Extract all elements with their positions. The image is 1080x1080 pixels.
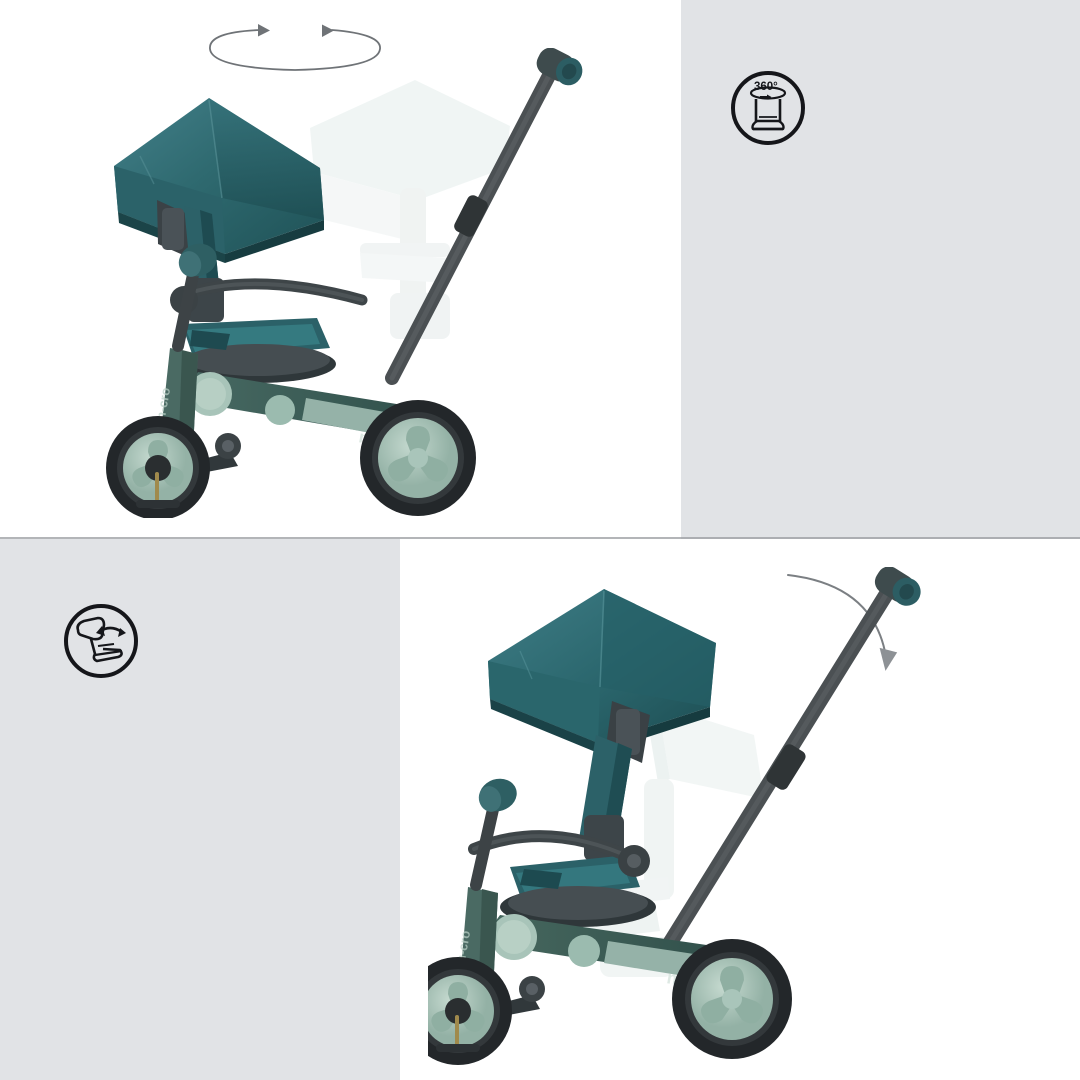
icon-360-label: 360° [754,81,778,93]
panel-recline-feature: Reclining seat for quick naps, long snoo… [0,539,400,1080]
trike-product-image: m-cro m-cro [428,567,1058,1077]
trike-product-image: m-cro m-cro [62,48,622,518]
panel-product-recline: m-cro m-cro [400,539,1080,1080]
panel-product-rotate: m-cro m-cro [0,0,681,539]
seat-rotate-360-icon: 360° [729,69,807,147]
panel-rotate-feature: 360° Rotate the seat 360 degrees. Explor… [681,0,1080,539]
horizontal-divider [0,537,1080,539]
marketing-collage: m-cro m-cro [0,0,1080,1080]
